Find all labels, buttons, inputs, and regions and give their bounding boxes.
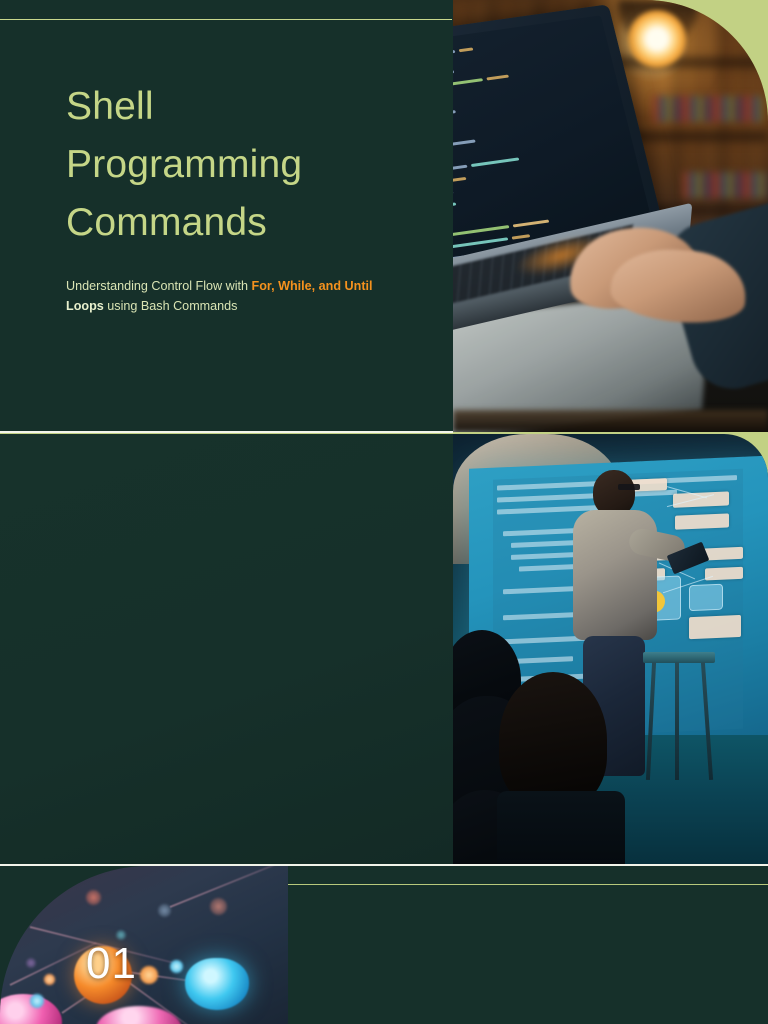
code-line [453,78,483,89]
molecule-pink-center [96,1006,182,1024]
code-line [453,139,476,148]
code-line [471,157,519,166]
code-line [453,110,456,117]
subtitle-strong-loops: Loops [66,299,104,313]
code-line [453,202,456,207]
classroom-presentation-photo [453,434,768,865]
section-number: 01 [86,942,137,986]
code-line [459,47,474,51]
code-line [453,50,455,56]
laptop-coding-photo [453,0,768,432]
top-divider-rule [0,19,452,20]
code-line [453,165,467,171]
content-panel [0,434,453,866]
subtitle-accent-loops: For, While, and Until [252,279,373,293]
code-line [453,225,509,238]
panel-separator-line [0,431,453,433]
slide-canvas: Shell Programming Commands Understanding… [0,0,768,1024]
subtitle-lead: Understanding Control Flow with [66,279,252,293]
footer-divider-rule [287,884,768,885]
presenter-glasses [618,484,640,490]
books-row [653,96,763,122]
stool [643,652,715,778]
slide-subtitle: Understanding Control Flow with For, Whi… [66,276,391,316]
title-panel: Shell Programming Commands Understanding… [0,0,453,432]
page-title: Shell Programming Commands [66,78,436,252]
audience-hair [499,672,607,808]
code-line [512,234,531,239]
code-line [453,70,454,78]
bokeh-lamp-light [628,10,686,68]
desk-edge [453,410,768,432]
code-line [513,219,549,227]
subtitle-tail: using Bash Commands [104,299,238,313]
code-line [453,177,466,181]
code-line [486,75,509,81]
audience-chair [497,791,625,865]
title-block: Shell Programming Commands [66,78,436,252]
books-row [683,172,768,198]
molecule-cyan [185,958,249,1010]
